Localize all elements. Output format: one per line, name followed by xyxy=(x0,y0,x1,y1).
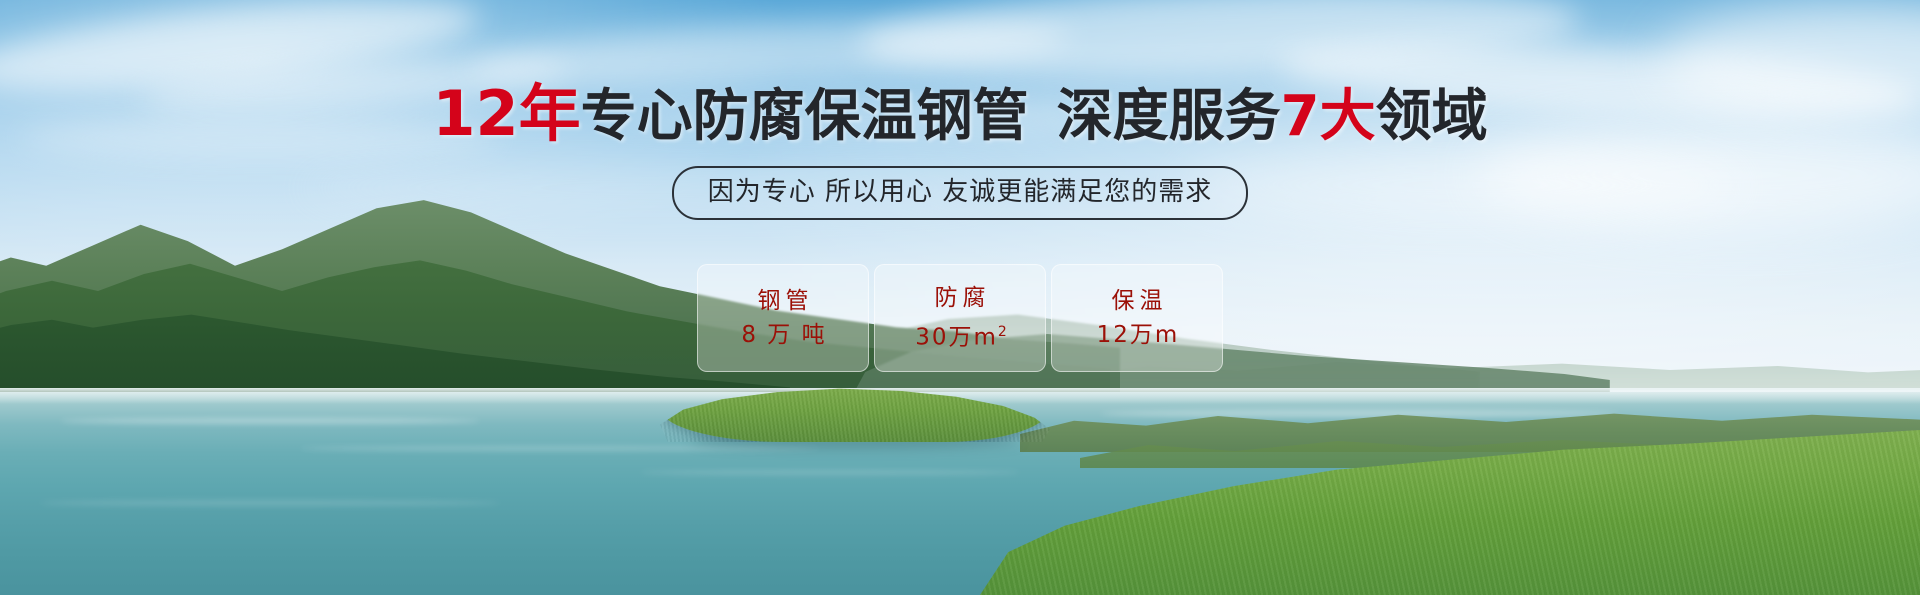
stat-card-anticorrosion[interactable]: 防腐 30万m2 xyxy=(874,264,1046,372)
banner-content: 12年专心防腐保温钢管深度服务7大领域 因为专心 所以用心 友诚更能满足您的需求… xyxy=(0,0,1920,595)
headline-seven-fields: 7大 xyxy=(1281,84,1376,149)
stat-card-value: 30万m2 xyxy=(913,319,1007,351)
headline: 12年专心防腐保温钢管深度服务7大领域 xyxy=(0,82,1920,149)
stat-value-text: 12万m xyxy=(1097,322,1180,348)
stat-card-label: 钢管 xyxy=(753,288,814,314)
subtitle-pill: 因为专心 所以用心 友诚更能满足您的需求 xyxy=(672,166,1249,220)
stat-value-text: 8 万 吨 xyxy=(741,322,826,348)
stat-card-insulation[interactable]: 保温 12万m xyxy=(1051,264,1223,372)
promo-banner: 12年专心防腐保温钢管深度服务7大领域 因为专心 所以用心 友诚更能满足您的需求… xyxy=(0,0,1920,595)
stat-card-label: 保温 xyxy=(1107,288,1168,314)
headline-main: 专心防腐保温钢管 xyxy=(581,84,1029,149)
stat-card-value: 8 万 吨 xyxy=(739,322,826,348)
stat-value-text: 30万m xyxy=(915,325,998,351)
headline-fields: 领域 xyxy=(1376,84,1488,149)
headline-years: 12年 xyxy=(432,77,580,150)
stat-card-steel-pipe[interactable]: 钢管 8 万 吨 xyxy=(697,264,869,372)
headline-service: 深度服务 xyxy=(1057,84,1281,149)
subtitle-container: 因为专心 所以用心 友诚更能满足您的需求 xyxy=(0,166,1920,220)
stat-card-label: 防腐 xyxy=(930,285,991,311)
stat-value-superscript: 2 xyxy=(998,324,1007,340)
stats-card-row: 钢管 8 万 吨 防腐 30万m2 保温 12万m xyxy=(0,264,1920,372)
stat-card-value: 12万m xyxy=(1095,322,1180,348)
